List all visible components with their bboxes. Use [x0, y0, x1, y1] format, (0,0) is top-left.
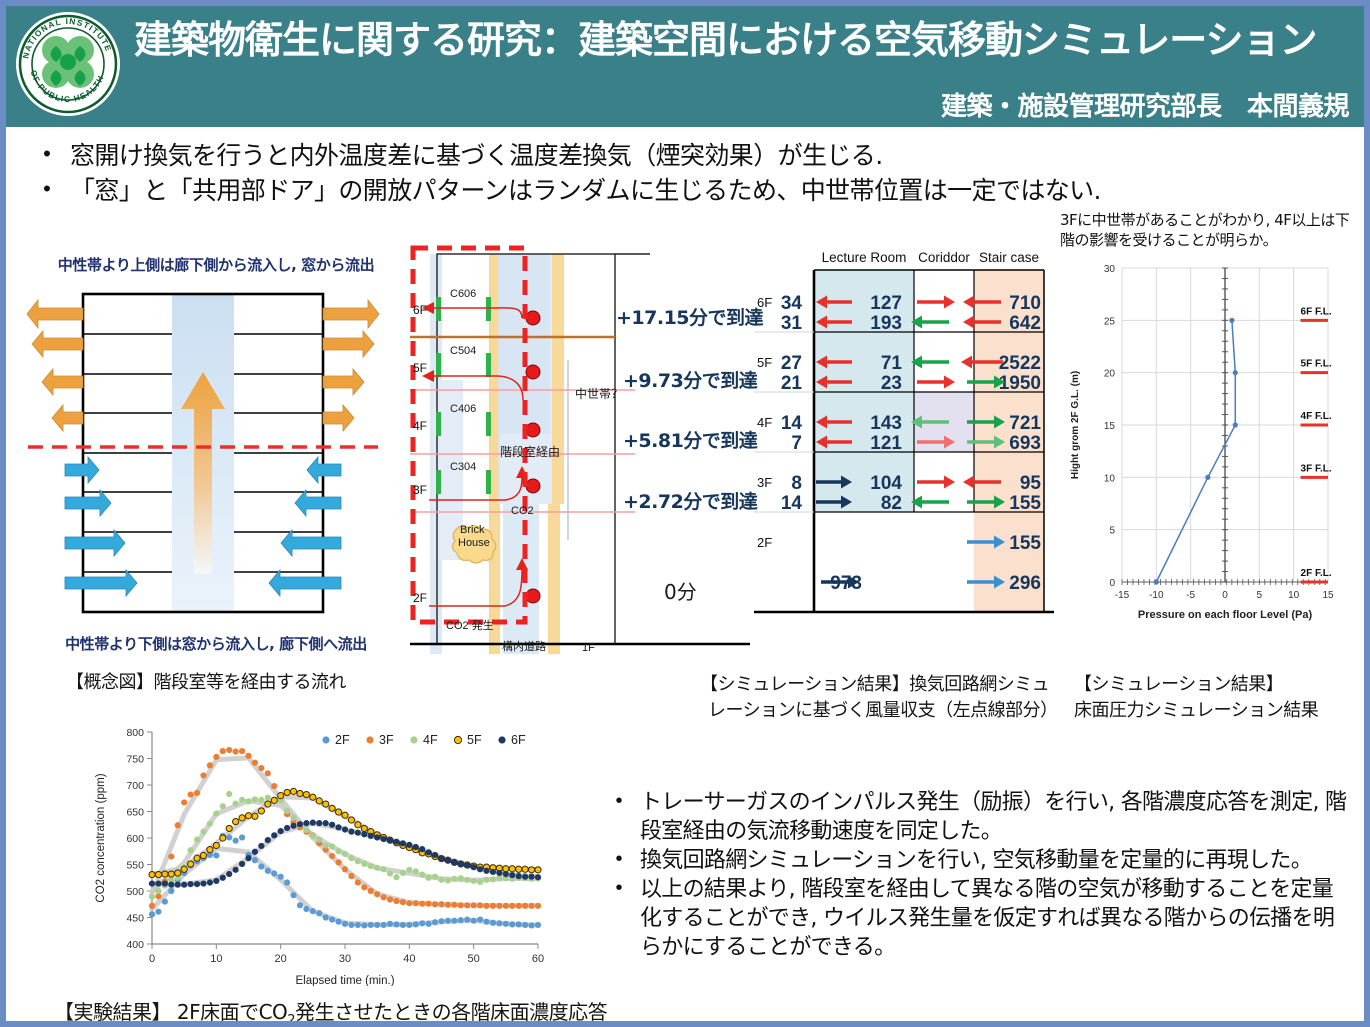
pressure-caption-line1: 【シミュレーション結果】 [1074, 672, 1354, 698]
svg-text:4F: 4F [423, 733, 438, 747]
svg-text:600: 600 [126, 833, 144, 845]
svg-text:750: 750 [126, 754, 144, 766]
airflow-balance-diagram: Lecture RoomCoriddorStair case6F34127710… [754, 240, 1054, 628]
svg-text:5F: 5F [757, 355, 772, 370]
bullet-text: トレーサーガスのインパルス発生（励振）を行い, 各階濃度応答を測定, 階段室経由… [640, 788, 1353, 846]
svg-text:C304: C304 [450, 461, 476, 473]
svg-text:155: 155 [1009, 493, 1041, 514]
svg-text:5F F.L.: 5F F.L. [1301, 359, 1332, 370]
svg-text:296: 296 [1009, 573, 1041, 594]
svg-text:550: 550 [126, 860, 144, 872]
svg-text:2522: 2522 [999, 353, 1041, 374]
floor-pressure-chart: 3Fに中世帯があることがわかり, 4F以上は下階の影響を受けることが明らか。 0… [1060, 211, 1358, 651]
page-title: 建築物衛生に関する研究：建築空間における空気移動シミュレーション [134, 20, 1349, 62]
svg-text:40: 40 [403, 953, 415, 965]
bottom-bullet-list: • トレーサーガスのインパルス発生（励振）を行い, 各階濃度応答を測定, 階段室… [598, 788, 1353, 962]
co2-concentration-chart: 4004505005506006507007508000102030405060… [86, 718, 571, 986]
svg-text:6F F.L.: 6F F.L. [1301, 306, 1332, 317]
svg-text:2F: 2F [413, 591, 427, 605]
airflow-caption: 【シミュレーション結果】換気回路網シミュ レーションに基づく風量収支（左点線部分… [700, 672, 1070, 724]
svg-text:20: 20 [275, 953, 287, 965]
svg-text:Stair case: Stair case [979, 250, 1039, 265]
top-bullet-list: • 窓開け換気を行うと内外温度差に基づく温度差換気（煙突効果）が生じる. • 「… [24, 140, 1224, 209]
svg-text:30: 30 [1104, 264, 1116, 275]
svg-text:-10: -10 [1149, 590, 1164, 601]
svg-text:71: 71 [881, 353, 903, 374]
svg-text:3F: 3F [413, 483, 427, 497]
svg-text:143: 143 [870, 413, 902, 434]
svg-text:34: 34 [781, 293, 803, 314]
svg-text:700: 700 [126, 780, 144, 792]
svg-text:14: 14 [781, 493, 803, 514]
svg-text:21: 21 [781, 373, 803, 394]
svg-text:15: 15 [1322, 590, 1334, 601]
svg-text:1F: 1F [582, 642, 595, 654]
svg-text:CO2: CO2 [511, 505, 534, 517]
svg-text:10: 10 [1104, 473, 1116, 484]
svg-text:400: 400 [126, 939, 144, 951]
arrival-time-6f: +17.15分で到達 [616, 303, 763, 330]
svg-text:14: 14 [781, 413, 803, 434]
svg-text:3F: 3F [379, 733, 394, 747]
svg-text:4F: 4F [757, 415, 772, 430]
bullet-item: • トレーサーガスのインパルス発生（励振）を行い, 各階濃度応答を測定, 階段室… [598, 788, 1353, 846]
svg-text:15: 15 [1104, 421, 1116, 432]
svg-text:721: 721 [1009, 413, 1041, 434]
zero-minute-label: 0分 [664, 576, 697, 605]
svg-text:121: 121 [870, 433, 902, 454]
svg-text:2F: 2F [335, 733, 350, 747]
svg-text:CO2 発生: CO2 発生 [446, 618, 494, 632]
svg-text:20: 20 [1104, 369, 1116, 380]
svg-text:House: House [458, 537, 490, 549]
svg-text:10: 10 [1288, 590, 1300, 601]
svg-text:1950: 1950 [999, 373, 1041, 394]
slide-root: NATIONAL INSTITUTE OF PUBLIC HEALTH 建築物衛… [0, 0, 1370, 1027]
svg-text:C504: C504 [450, 345, 476, 357]
arrival-time-4f: +5.81分で到達 [623, 426, 757, 453]
svg-text:Lecture Room: Lecture Room [822, 250, 907, 265]
svg-text:-15: -15 [1115, 590, 1130, 601]
svg-text:50: 50 [468, 953, 480, 965]
svg-text:4F: 4F [413, 419, 427, 433]
bullet-marker-icon: • [598, 788, 640, 814]
svg-text:10: 10 [210, 953, 222, 965]
svg-text:C606: C606 [450, 288, 476, 300]
svg-text:155: 155 [1009, 533, 1041, 554]
bullet-text: 換気回路網シミュレーションを行い, 空気移動量を定量的に再現した。 [640, 846, 1312, 875]
institute-logo: NATIONAL INSTITUTE OF PUBLIC HEALTH [16, 12, 120, 116]
svg-text:5: 5 [1257, 590, 1263, 601]
bullet-marker-icon: • [24, 175, 70, 203]
svg-text:5F: 5F [467, 733, 482, 747]
svg-text:82: 82 [881, 493, 902, 514]
bullet-marker-icon: • [598, 846, 640, 872]
arrival-time-3f: +2.72分で到達 [623, 487, 757, 514]
svg-text:6F: 6F [757, 295, 772, 310]
svg-text:800: 800 [126, 727, 144, 739]
svg-text:0: 0 [149, 953, 155, 965]
neutral-zone-question: 中世帯？ [575, 386, 623, 401]
svg-text:-5: -5 [1186, 590, 1195, 601]
arrival-time-5f: +9.73分で到達 [623, 366, 757, 393]
svg-text:Elapsed time (min.): Elapsed time (min.) [295, 975, 394, 986]
svg-text:2F F.L.: 2F F.L. [1301, 568, 1332, 579]
bullet-item: • 以上の結果より, 階段室を経由して異なる階の空気が移動することを定量化するこ… [598, 875, 1353, 962]
co2-caption: 【実験結果】 2F床面でCO2発生させたときの各階床面濃度応答 [54, 998, 694, 1027]
bullet-text: 「窓」と「共用部ドア」の開放パターンはランダムに生じるため、中世帯位置は一定では… [70, 175, 1101, 208]
presenter-subtitle: 建築・施設管理研究部長 本間義規 [134, 86, 1349, 123]
svg-text:0: 0 [1109, 578, 1115, 589]
svg-text:60: 60 [532, 953, 544, 965]
svg-text:30: 30 [339, 953, 351, 965]
bullet-item: • 換気回路網シミュレーションを行い, 空気移動量を定量的に再現した。 [598, 846, 1353, 875]
svg-text:8: 8 [791, 473, 802, 494]
bullet-marker-icon: • [598, 875, 640, 901]
svg-text:104: 104 [870, 473, 902, 494]
svg-text:6F: 6F [511, 733, 526, 747]
concept-diagram: 中性帯より上側は廊下側から流入し, 窓から流出 中性帯より下側は窓から流入し, … [26, 254, 406, 654]
bullet-item: • 「窓」と「共用部ドア」の開放パターンはランダムに生じるため、中世帯位置は一定… [24, 175, 1224, 208]
svg-text:7: 7 [791, 433, 802, 454]
concept-caption: 【概念図】階段室等を経由する流れ [66, 670, 406, 696]
svg-text:Coriddor: Coriddor [918, 250, 970, 265]
airflow-caption-line1: 【シミュレーション結果】換気回路網シミュ [700, 672, 1070, 698]
svg-text:23: 23 [881, 373, 902, 394]
svg-text:Pressure on each floor Level (: Pressure on each floor Level (Pa) [1138, 609, 1313, 621]
bullet-text: 窓開け換気を行うと内外温度差に基づく温度差換気（煙突効果）が生じる. [70, 140, 883, 173]
svg-text:500: 500 [126, 886, 144, 898]
svg-text:693: 693 [1009, 433, 1041, 454]
svg-text:650: 650 [126, 807, 144, 819]
slide-header: NATIONAL INSTITUTE OF PUBLIC HEALTH 建築物衛… [6, 6, 1364, 127]
svg-text:5F: 5F [413, 361, 427, 375]
svg-text:127: 127 [870, 293, 902, 314]
svg-text:27: 27 [781, 353, 802, 374]
airflow-caption-line2: レーションに基づく風量収支（左点線部分） [700, 698, 1070, 724]
svg-text:C406: C406 [450, 403, 476, 415]
pressure-caption: 【シミュレーション結果】 床面圧力シミュレーション結果 [1074, 672, 1354, 724]
co2-caption-text: 【実験結果】 2F床面でCO2発生させたときの各階床面濃度応答 [54, 1000, 607, 1024]
svg-text:710: 710 [1009, 293, 1041, 314]
svg-text:4F F.L.: 4F F.L. [1301, 411, 1332, 422]
svg-text:25: 25 [1104, 316, 1116, 327]
svg-text:6F: 6F [413, 303, 427, 317]
svg-text:2F: 2F [757, 535, 772, 550]
pressure-caption-line2: 床面圧力シミュレーション結果 [1074, 698, 1354, 724]
pressure-chart-note: 3Fに中世帯があることがわかり, 4F以上は下階の影響を受けることが明らか。 [1060, 211, 1358, 250]
svg-text:0: 0 [1222, 590, 1228, 601]
svg-text:CO2 concentration (ppm): CO2 concentration (ppm) [95, 773, 107, 902]
bullet-text: 以上の結果より, 階段室を経由して異なる階の空気が移動することを定量化することが… [640, 875, 1353, 962]
svg-text:31: 31 [781, 313, 803, 334]
svg-text:193: 193 [870, 313, 902, 334]
svg-text:95: 95 [1020, 473, 1042, 494]
svg-text:Brick: Brick [460, 524, 485, 536]
svg-text:3F: 3F [757, 475, 772, 490]
svg-text:450: 450 [126, 913, 144, 925]
svg-text:642: 642 [1009, 313, 1041, 334]
via-stairwell-label: 階段室経由 [500, 444, 560, 459]
svg-text:3F F.L.: 3F F.L. [1301, 463, 1332, 474]
svg-text:5: 5 [1109, 526, 1115, 537]
svg-text:Hight grom 2F G.L. (m): Hight grom 2F G.L. (m) [1070, 371, 1081, 479]
bullet-item: • 窓開け換気を行うと内外温度差に基づく温度差換気（煙突効果）が生じる. [24, 140, 1224, 173]
bullet-marker-icon: • [24, 140, 70, 168]
svg-text:構内道路: 構内道路 [502, 639, 546, 653]
